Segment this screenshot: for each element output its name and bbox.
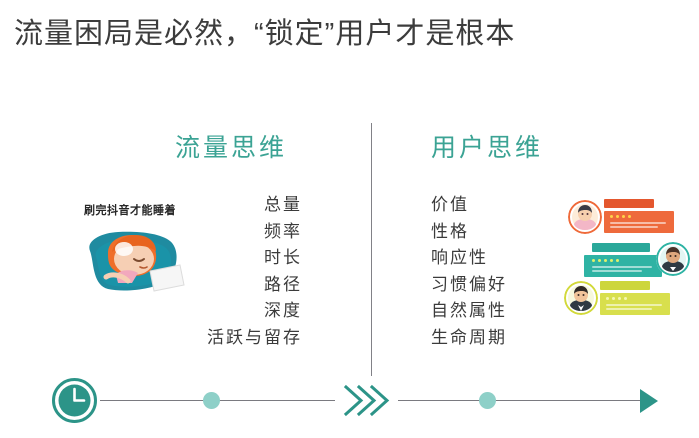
avatar [656, 242, 690, 276]
sleeping-person-illustration: 刷完抖音才能睡着 [62, 197, 198, 301]
right-column-heading: 用户思维 [431, 133, 543, 163]
rating-star [612, 297, 615, 300]
rating-star [610, 215, 613, 218]
timeline-marker [479, 392, 496, 409]
avatar [564, 281, 598, 315]
testimonial-cards-graphic [556, 192, 699, 320]
rating-star [628, 215, 631, 218]
left-column-heading: 流量思维 [175, 133, 287, 163]
list-item: 生命周期 [431, 325, 611, 352]
card-name-bar [592, 243, 650, 252]
triple-chevron-glyph [341, 382, 393, 419]
rating-star [610, 259, 613, 262]
illustration-caption: 刷完抖音才能睡着 [62, 205, 198, 219]
testimonial-card-teal [584, 240, 699, 280]
list-item: 活跃与留存 [140, 325, 302, 352]
card-text-line [592, 266, 652, 268]
timeline-marker [203, 392, 220, 409]
card-text-line [592, 270, 642, 272]
rating-star [616, 259, 619, 262]
column-divider [371, 123, 372, 376]
card-text-line [606, 308, 652, 310]
card-text-line [610, 222, 666, 224]
card-name-bar [604, 199, 654, 208]
arrow-right-glyph [638, 388, 660, 414]
testimonial-card-lime [560, 278, 678, 318]
page-title: 流量困局是必然，“锁定”用户才是根本 [14, 14, 674, 54]
rating-star [592, 259, 595, 262]
rating-star [622, 215, 625, 218]
clock-icon-glyph [52, 378, 97, 423]
list-item: 深度 [140, 298, 302, 325]
rating-star [604, 259, 607, 262]
rating-star [598, 259, 601, 262]
avatar [568, 200, 602, 234]
testimonial-card-orange [564, 196, 682, 236]
clock-icon [52, 378, 97, 423]
card-name-bar [600, 281, 650, 290]
triple-chevron-right-icon [341, 382, 393, 419]
arrow-right-icon [638, 388, 660, 414]
rating-star [616, 215, 619, 218]
card-text-line [610, 226, 658, 228]
rating-star [624, 297, 627, 300]
rating-star [618, 297, 621, 300]
rating-star [606, 297, 609, 300]
timeline-segment-right [398, 400, 641, 401]
card-text-line [606, 304, 662, 306]
